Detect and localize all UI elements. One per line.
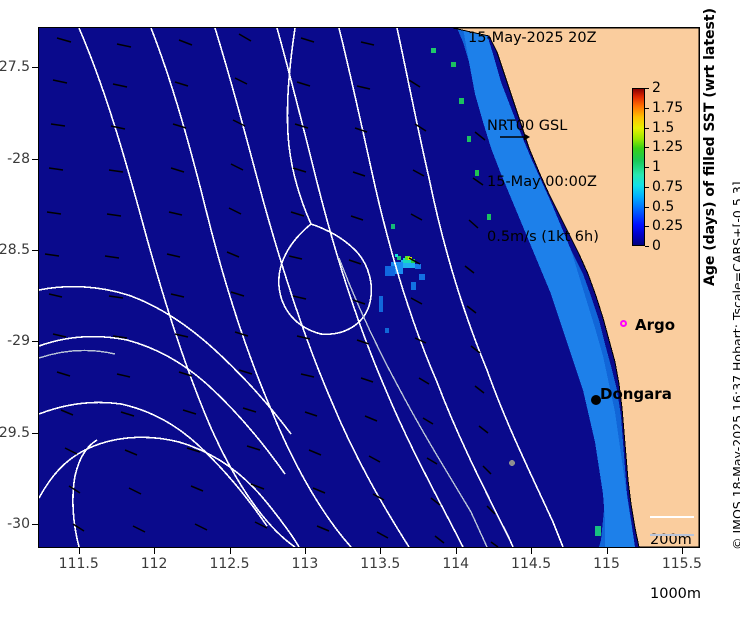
dongara-label: Dongara [600,385,672,403]
colorbar-tick [645,147,649,148]
map-svg [39,28,699,547]
colorbar-tick [645,207,649,208]
credit-text: © IMOS 18-May-2025 16:37 Hobart; Tscale=… [714,120,736,560]
map-plot-area [38,27,700,548]
colorbar-tick-label: 0.25 [652,218,683,234]
y-axis-tick-label: -29 [7,333,30,349]
colorbar-title: Age (days) of filled SST (wrt latest) [684,28,706,288]
model-time-label: 15-May 00:00Z [487,173,599,192]
colorbar [632,88,645,246]
x-axis-tick [531,548,532,554]
colorbar-tick [645,128,649,129]
colorbar-tick [645,108,649,109]
vector-scale-label: 0.5m/s (1kt 6h) [487,228,599,247]
y-axis-tick-label: -28.5 [0,242,30,258]
model-info-block: NRT00 GSL 15-May 00:00Z 0.5m/s (1kt 6h) [487,80,599,265]
y-axis-tick [32,341,38,342]
map-canvas [39,28,699,547]
y-axis-tick [32,433,38,434]
x-axis-tick [607,548,608,554]
y-axis-tick-label: -30 [7,516,30,532]
depth-200m-rule [650,516,694,518]
colorbar-tick-label: 1.5 [652,120,674,136]
x-axis-tick [154,548,155,554]
argo-label: Argo [635,316,675,334]
x-axis-tick-label: 111.5 [59,556,99,572]
colorbar-tick-label: 0 [652,238,661,254]
x-axis-tick-label: 113.5 [360,556,400,572]
y-axis-tick [32,524,38,525]
credit-label: © IMOS 18-May-2025 16:37 Hobart; Tscale=… [730,181,740,550]
colorbar-tick [645,88,649,89]
colorbar-tick-label: 0.75 [652,179,683,195]
colorbar-tick [645,246,649,247]
x-axis-tick [79,548,80,554]
y-axis-tick-label: -29.5 [0,425,30,441]
x-axis-tick-label: 115.5 [662,556,702,572]
y-axis-tick [32,159,38,160]
x-axis-tick [305,548,306,554]
x-axis-tick-label: 115 [593,556,620,572]
x-axis-tick-label: 112 [141,556,168,572]
colorbar-tick-label: 1.75 [652,100,683,116]
colorbar-tick-label: 0.5 [652,199,674,215]
x-axis-tick-label: 112.5 [209,556,249,572]
depth-1000m-label: 1000m [650,585,701,603]
y-axis-tick [32,250,38,251]
x-axis-tick [682,548,683,554]
y-axis-tick-label: -27.5 [0,59,30,75]
x-axis-tick [230,548,231,554]
vector-scale-arrow-icon [500,132,530,142]
colorbar-tick [645,226,649,227]
depth-1000m-rule [650,534,694,536]
date-label: 15-May-2025 20Z [468,30,597,46]
y-axis-tick [32,67,38,68]
x-axis-tick-label: 113 [292,556,319,572]
argo-marker-icon [620,320,627,327]
colorbar-tick-label: 2 [652,80,661,96]
x-axis-tick [380,548,381,554]
colorbar-tick [645,187,649,188]
colorbar-tick [645,167,649,168]
grey-marker-dot [509,460,515,466]
x-axis-tick [456,548,457,554]
x-axis-tick-label: 114.5 [511,556,551,572]
y-axis-tick-label: -28 [7,151,30,167]
colorbar-tick-label: 1 [652,159,661,175]
colorbar-tick-label: 1.25 [652,139,683,155]
x-axis-tick-label: 114 [442,556,469,572]
